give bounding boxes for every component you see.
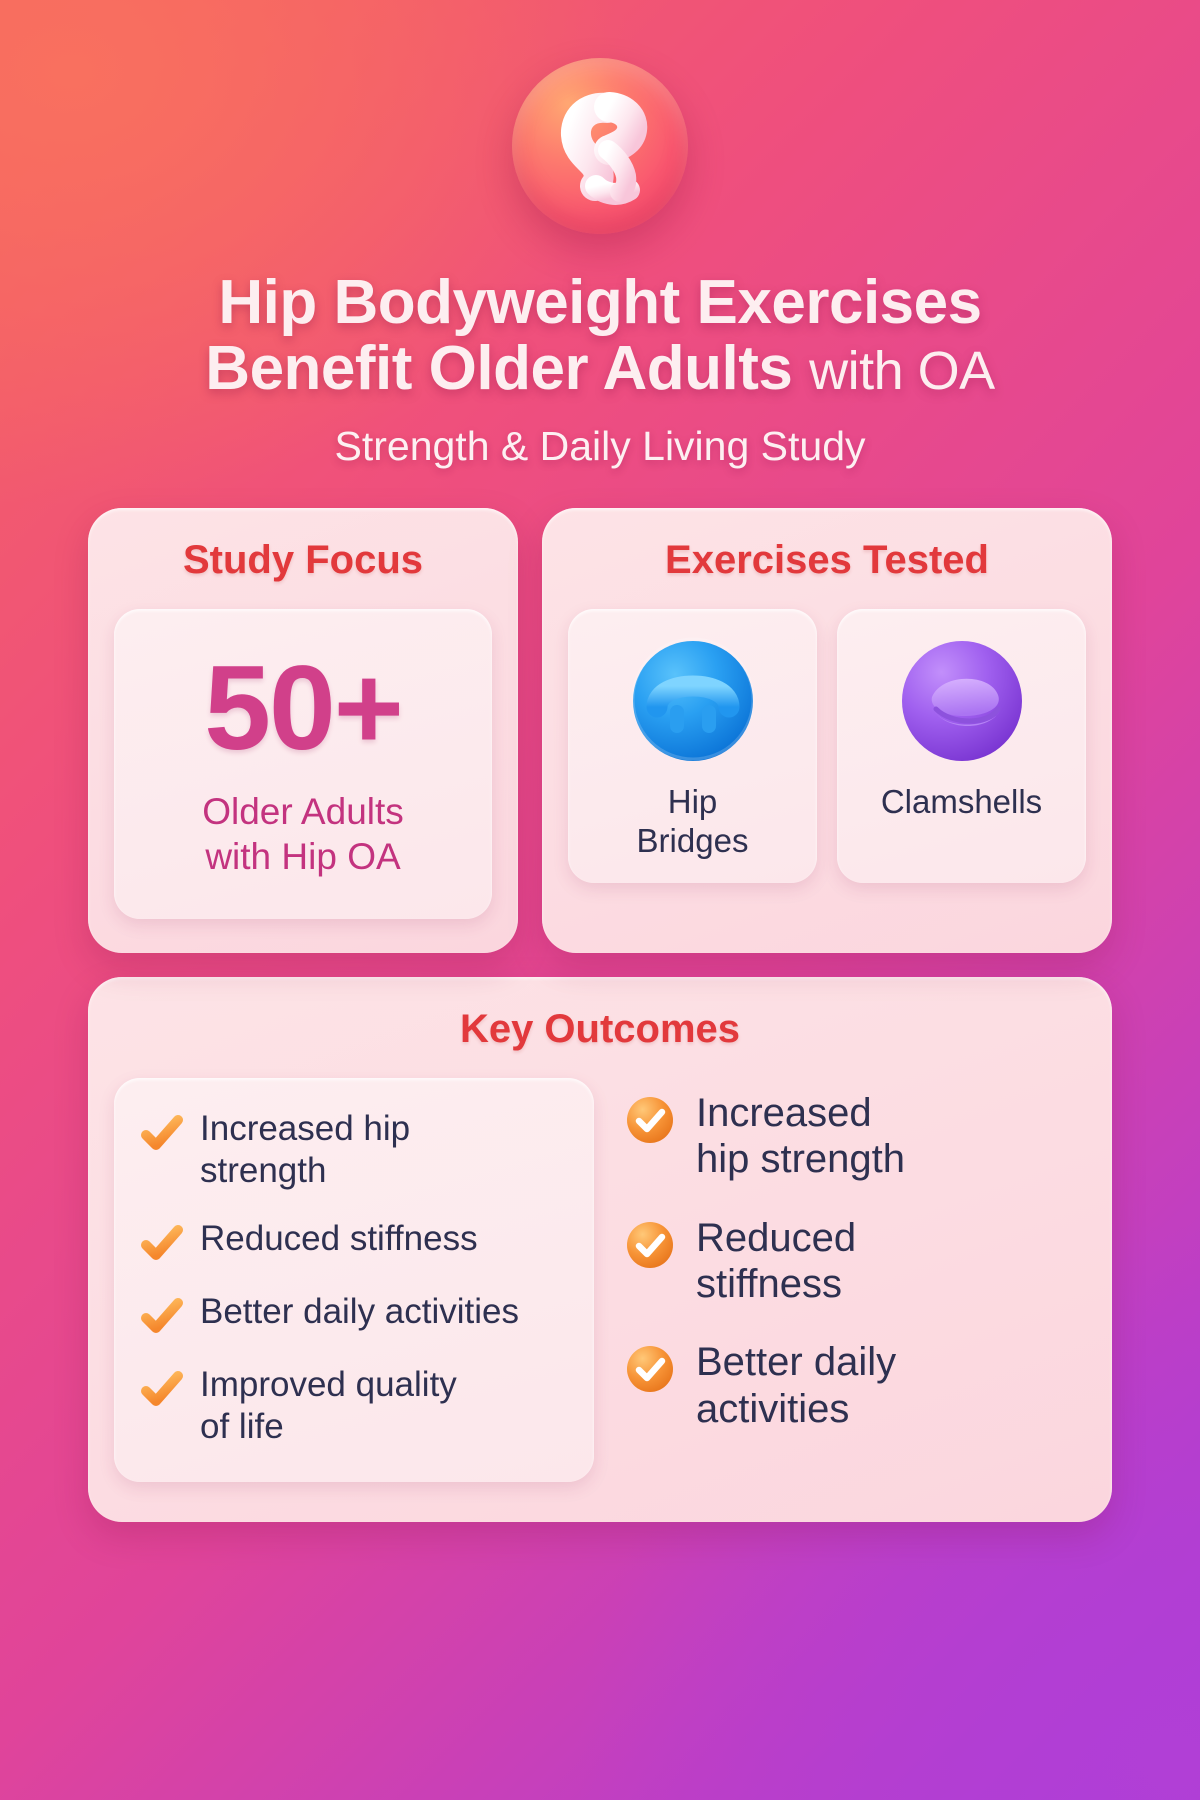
hip-bridge-icon (627, 635, 759, 767)
list-item-text: Increased hip strength (200, 1108, 410, 1192)
exercise-label-line-1: Hip (582, 783, 803, 822)
clamshell-icon (896, 635, 1028, 767)
study-stat-caption: Older Adults with Hip OA (134, 789, 472, 879)
list-item-line-1: Better daily activities (200, 1291, 519, 1333)
page-title: Hip Bodyweight Exercises Benefit Older A… (0, 270, 1200, 401)
outcomes-left-panel: Increased hip strength Reduced stiffness (114, 1078, 594, 1482)
list-item-line-2: stiffness (696, 1261, 856, 1307)
check-icon (140, 1294, 184, 1338)
study-stat-value: 50+ (134, 651, 472, 766)
list-item-text: Reduced stiffness (200, 1218, 478, 1260)
list-item: Reduced stiffness (624, 1215, 1076, 1308)
exercise-label-clamshells: Clamshells (851, 783, 1072, 822)
exercises-heading: Exercises Tested (568, 538, 1086, 583)
list-item: Improved quality of life (140, 1364, 568, 1448)
list-item-line-1: Better daily (696, 1339, 896, 1385)
key-outcomes-body: Increased hip strength Reduced stiffness (114, 1078, 1086, 1482)
list-item: Better daily activities (140, 1291, 568, 1338)
exercises-tested-card: Exercises Tested (542, 508, 1112, 952)
check-icon (140, 1111, 184, 1155)
exercise-label-line-1: Clamshells (851, 783, 1072, 822)
study-focus-heading: Study Focus (114, 538, 492, 583)
key-outcomes-heading: Key Outcomes (114, 1007, 1086, 1052)
poster-header: Hip Bodyweight Exercises Benefit Older A… (0, 0, 1200, 470)
page-subtitle: Strength & Daily Living Study (0, 423, 1200, 470)
list-item-line-1: Reduced (696, 1215, 856, 1261)
top-card-row: Study Focus 50+ Older Adults with Hip OA… (88, 508, 1112, 952)
infographic-poster: Hip Bodyweight Exercises Benefit Older A… (0, 0, 1200, 1800)
study-caption-line-2: with Hip OA (134, 834, 472, 879)
check-circle-icon (624, 1094, 676, 1146)
title-suffix: with OA (809, 341, 995, 401)
exercise-tile-row: Hip Bridges (568, 609, 1086, 883)
list-item: Better daily activities (624, 1339, 1076, 1432)
list-item-line-1: Increased hip (200, 1108, 410, 1150)
list-item: Reduced stiffness (140, 1218, 568, 1265)
list-item: Increased hip strength (624, 1090, 1076, 1183)
list-item-text: Reduced stiffness (696, 1215, 856, 1308)
exercise-label-hip-bridges: Hip Bridges (582, 783, 803, 861)
check-icon (140, 1367, 184, 1411)
list-item-text: Better daily activities (200, 1291, 519, 1333)
key-outcomes-card: Key Outcomes Increase (88, 977, 1112, 1522)
check-circle-icon (624, 1343, 676, 1395)
list-item-line-1: Improved quality (200, 1364, 457, 1406)
list-item-text: Increased hip strength (696, 1090, 905, 1183)
list-item: Increased hip strength (140, 1108, 568, 1192)
list-item-line-2: activities (696, 1386, 896, 1432)
title-line-2-wrap: Benefit Older Adults with OA (60, 336, 1140, 402)
list-item-line-1: Increased (696, 1090, 905, 1136)
study-focus-card: Study Focus 50+ Older Adults with Hip OA (88, 508, 518, 952)
study-caption-line-1: Older Adults (134, 789, 472, 834)
study-focus-panel: 50+ Older Adults with Hip OA (114, 609, 492, 918)
list-item-line-2: strength (200, 1150, 410, 1192)
exercise-tile-hip-bridges[interactable]: Hip Bridges (568, 609, 817, 883)
outcomes-right-panel: Increased hip strength Reduced stiffness (620, 1078, 1086, 1464)
hip-bone-icon (512, 58, 688, 234)
list-item-text: Improved quality of life (200, 1364, 457, 1448)
list-item-line-2: hip strength (696, 1136, 905, 1182)
check-circle-icon (624, 1219, 676, 1271)
title-line-1: Hip Bodyweight Exercises (60, 270, 1140, 336)
exercise-label-line-2: Bridges (582, 822, 803, 861)
title-line-2: Benefit Older Adults (205, 334, 792, 403)
list-item-line-1: Reduced stiffness (200, 1218, 478, 1260)
list-item-line-2: of life (200, 1406, 457, 1448)
exercise-tile-clamshells[interactable]: Clamshells (837, 609, 1086, 883)
check-icon (140, 1221, 184, 1265)
list-item-text: Better daily activities (696, 1339, 896, 1432)
